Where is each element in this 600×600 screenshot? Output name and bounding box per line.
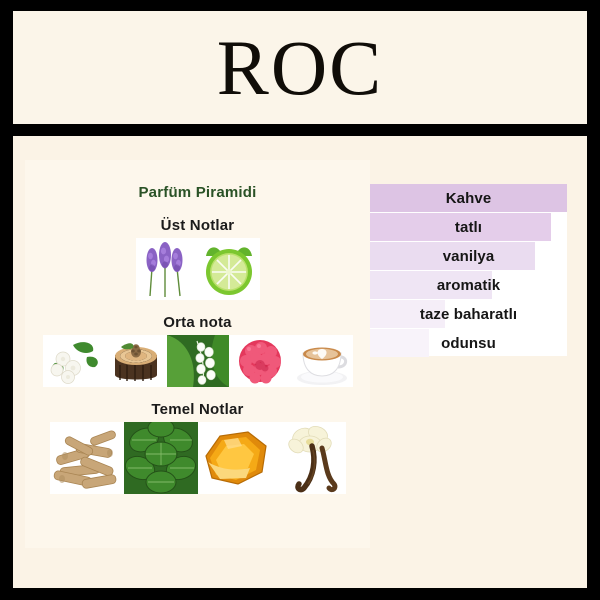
amber-image bbox=[198, 422, 272, 494]
pyramid-level-label: Orta nota bbox=[25, 314, 370, 331]
bar-label: odunsu bbox=[370, 335, 567, 352]
bar-label: tatlı bbox=[370, 219, 567, 236]
bar-label: Kahve bbox=[370, 190, 567, 207]
pyramid-level-images bbox=[25, 238, 370, 300]
pyramid-level-images bbox=[25, 335, 370, 387]
raspberry-image bbox=[229, 335, 291, 387]
bar-row[interactable]: Kahve bbox=[370, 184, 567, 212]
wood-slice-image bbox=[105, 335, 167, 387]
lime-image bbox=[198, 238, 260, 300]
pyramid-level-label: Üst Notlar bbox=[25, 217, 370, 234]
fragrance-pyramid-panel: Parfüm Piramidi Üst Notlar bbox=[25, 160, 370, 548]
pyramid-title: Parfüm Piramidi bbox=[25, 184, 370, 201]
brand-header: ROC bbox=[13, 11, 587, 124]
coffee-cup-image bbox=[291, 335, 353, 387]
bar-label: taze baharatlı bbox=[370, 306, 567, 323]
jasmine-image bbox=[43, 335, 105, 387]
brand-title: ROC bbox=[217, 29, 383, 107]
vanilla-image bbox=[272, 422, 346, 494]
pyramid-level-label: Temel Notlar bbox=[25, 401, 370, 418]
bar-row[interactable]: aromatik bbox=[370, 271, 567, 299]
lily-of-the-valley-image bbox=[167, 335, 229, 387]
bar-row[interactable]: tatlı bbox=[370, 213, 567, 241]
patchouli-leaves-image bbox=[124, 422, 198, 494]
content-area: Parfüm Piramidi Üst Notlar bbox=[13, 136, 587, 588]
cedar-sticks-image bbox=[50, 422, 124, 494]
bar-label: vanilya bbox=[370, 248, 567, 265]
pyramid-level-base: Temel Notlar bbox=[25, 401, 370, 494]
bar-row[interactable]: vanilya bbox=[370, 242, 567, 270]
page-frame: ROC Parfüm Piramidi Üst Notlar bbox=[0, 0, 600, 600]
notes-bar-chart: Kahve tatlı vanilya aromatik taze bahara… bbox=[370, 184, 567, 356]
pyramid-level-images bbox=[25, 422, 370, 494]
lavender-image bbox=[136, 238, 198, 300]
bar-row[interactable]: odunsu bbox=[370, 329, 567, 357]
pyramid-level-middle: Orta nota bbox=[25, 314, 370, 387]
bar-label: aromatik bbox=[370, 277, 567, 294]
bar-row[interactable]: taze baharatlı bbox=[370, 300, 567, 328]
pyramid-level-top: Üst Notlar bbox=[25, 217, 370, 300]
